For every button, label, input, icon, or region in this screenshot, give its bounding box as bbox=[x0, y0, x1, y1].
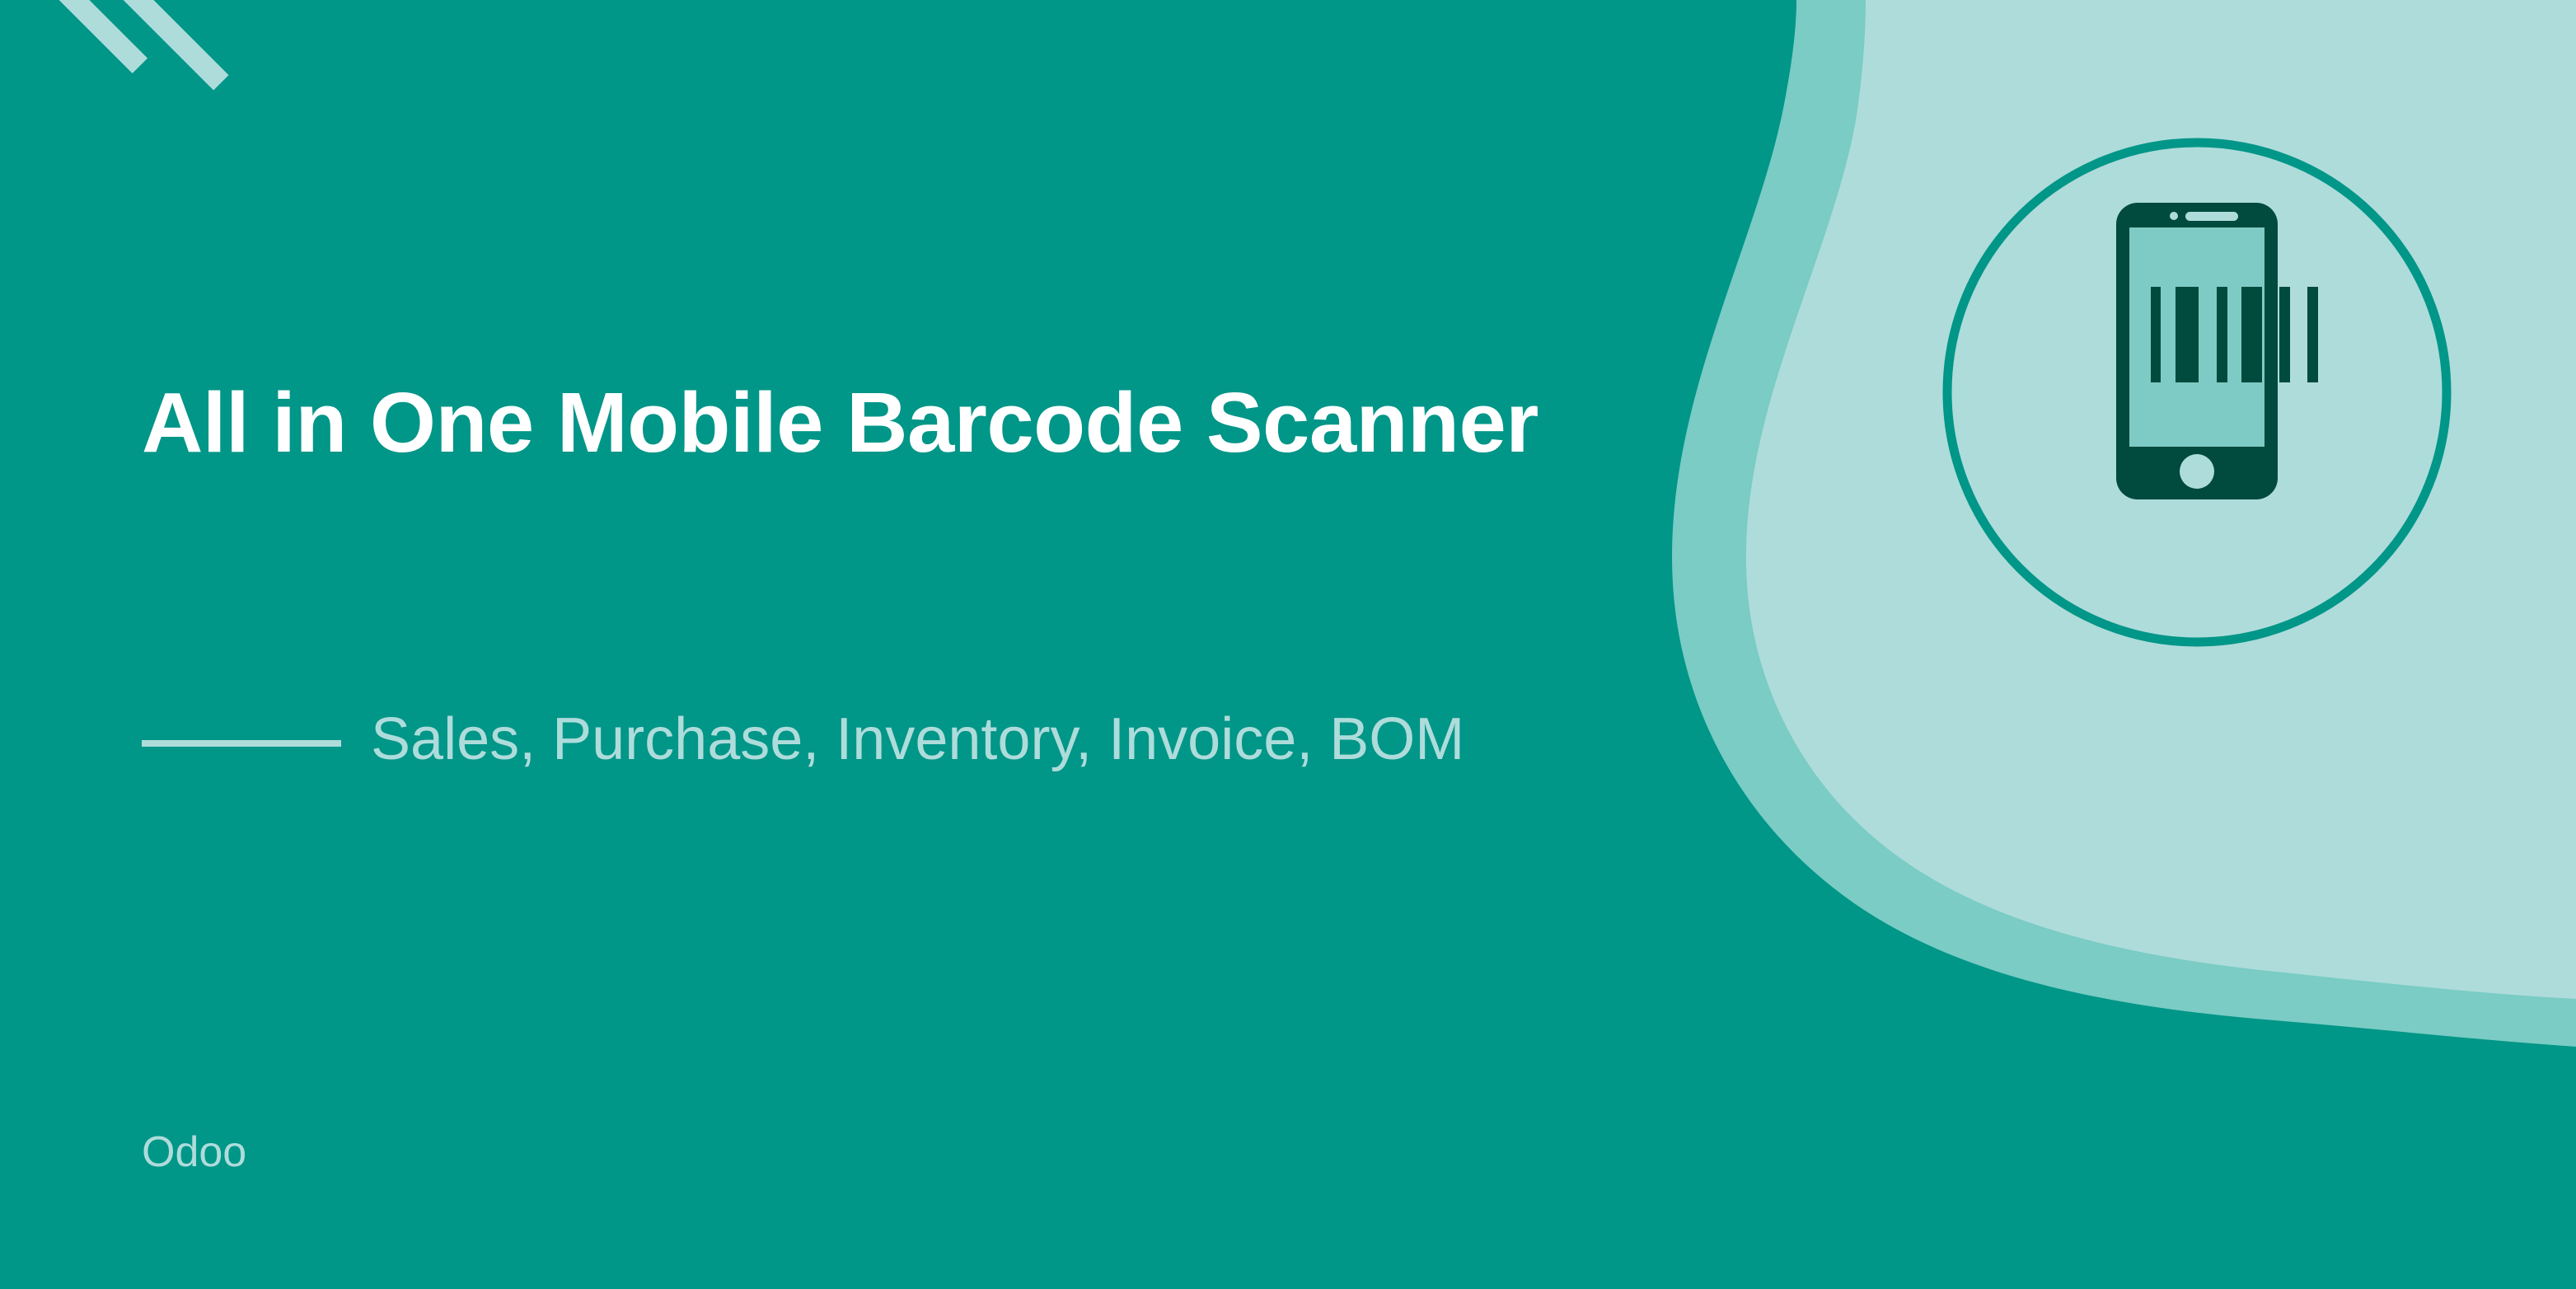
phone-camera bbox=[2170, 212, 2178, 220]
barcode-bar bbox=[2279, 287, 2290, 382]
page-title: All in One Mobile Barcode Scanner bbox=[142, 373, 1707, 473]
barcode-bar bbox=[2307, 287, 2318, 382]
phone-speaker bbox=[2185, 212, 2238, 221]
brand-label: Odoo bbox=[142, 1131, 246, 1174]
barcode-bar bbox=[2241, 287, 2262, 382]
subtitle-row: Sales, Purchase, Inventory, Invoice, BOM bbox=[142, 702, 1707, 777]
barcode-bar bbox=[2217, 287, 2227, 382]
phone-home-button bbox=[2180, 454, 2214, 489]
presentation-slide: All in One Mobile Barcode Scanner Sales,… bbox=[0, 0, 2576, 1289]
diagonal-stripe-1 bbox=[12, 0, 148, 73]
barcode-bar bbox=[2151, 287, 2161, 382]
smartphone-icon bbox=[2116, 203, 2318, 499]
subtitle-rule-divider bbox=[142, 740, 341, 747]
mobile-barcode-scanner-icon bbox=[1935, 130, 2459, 654]
slide-text-content: All in One Mobile Barcode Scanner Sales,… bbox=[142, 0, 1749, 1289]
barcode-bar bbox=[2176, 287, 2199, 382]
page-subtitle: Sales, Purchase, Inventory, Invoice, BOM bbox=[371, 702, 1707, 777]
